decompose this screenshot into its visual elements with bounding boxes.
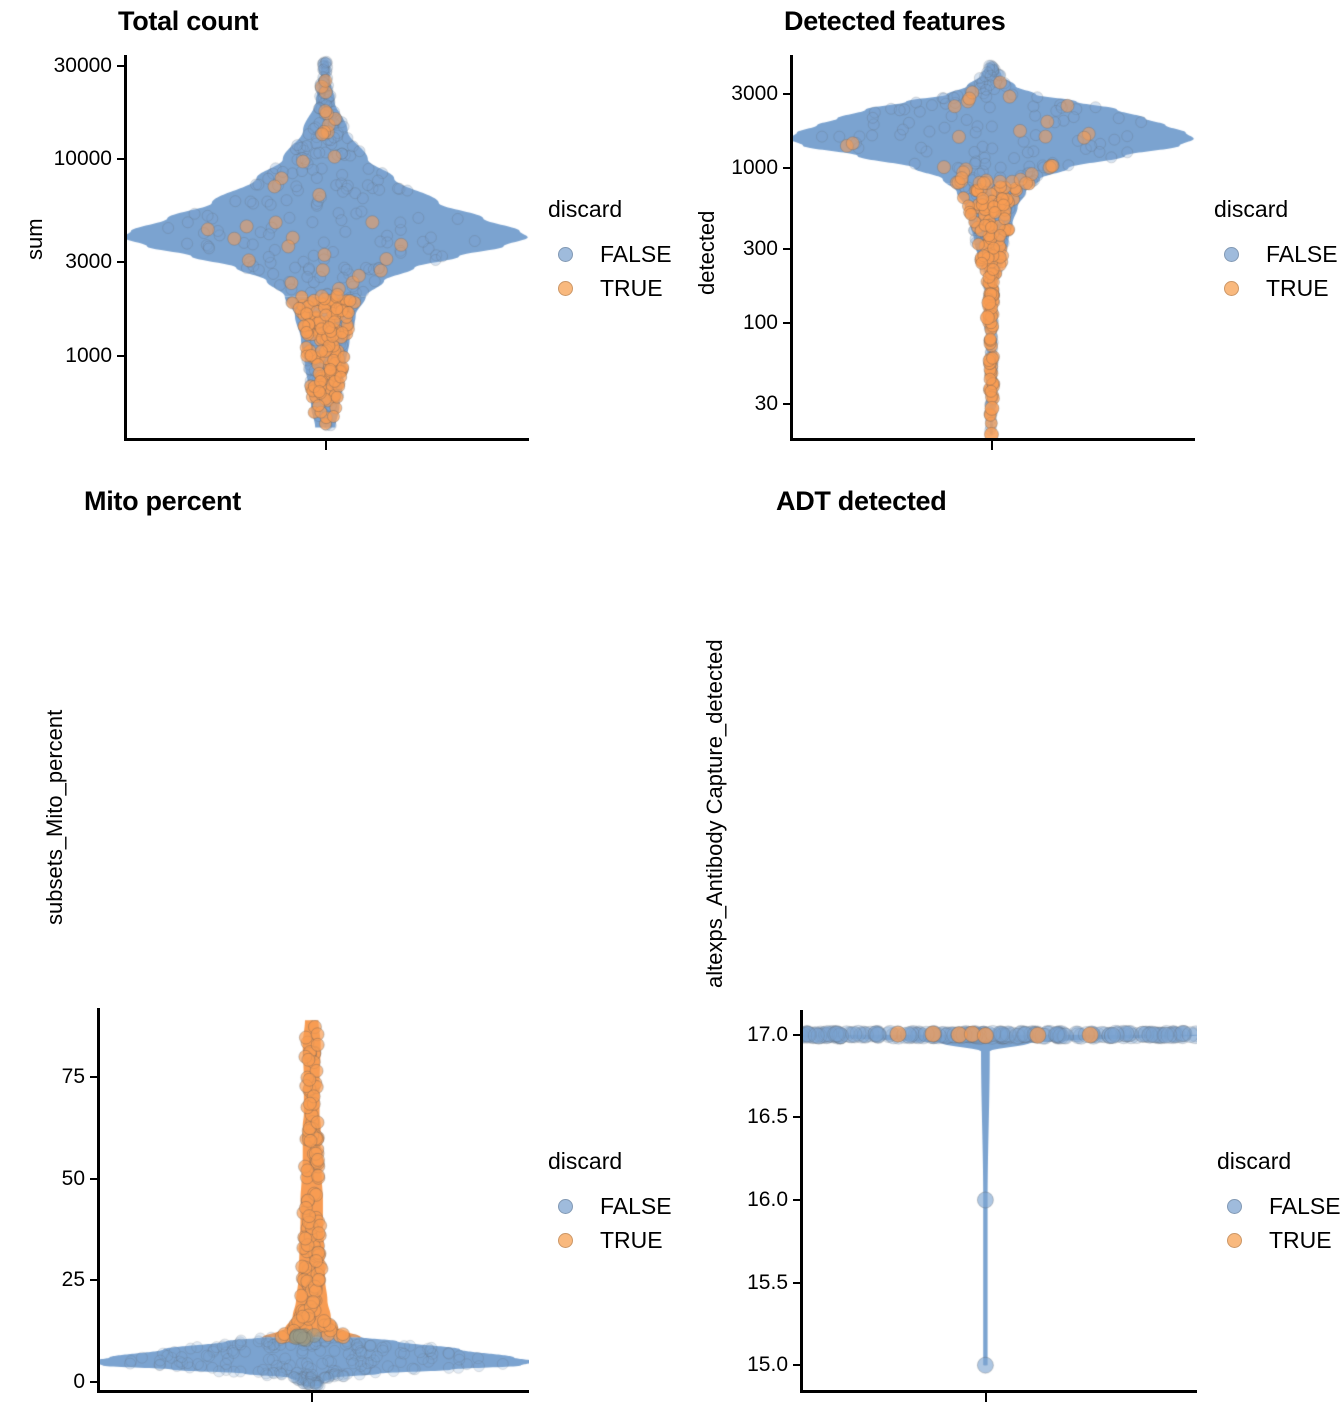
- legend-title: discard: [548, 196, 672, 223]
- legend-title: discard: [1217, 1148, 1341, 1175]
- x-axis-line-mito-percent: [97, 1390, 529, 1393]
- y-tick-label: 30000: [54, 54, 112, 78]
- legend-key-true: [1214, 271, 1248, 305]
- panel-title-adt-detected: ADT detected: [776, 486, 946, 517]
- legend-adt-detected: discard FALSE TRUE: [1217, 1148, 1341, 1257]
- x-axis-tick-adt-detected: [985, 1393, 987, 1402]
- violin-canvas-total-count: [124, 55, 529, 438]
- legend-detected-features: discard FALSE TRUE: [1214, 196, 1338, 305]
- y-axis-title-sum: sum: [22, 218, 48, 260]
- legend-dot-true-icon: [1227, 1233, 1242, 1248]
- y-tick-mark: [90, 1178, 97, 1180]
- y-tick-mark: [90, 1076, 97, 1078]
- y-tick-mark: [783, 93, 790, 95]
- y-axis-line-detected-features: [790, 55, 793, 438]
- legend-label-true: TRUE: [1266, 275, 1329, 302]
- x-axis-line-adt-detected: [800, 1390, 1197, 1393]
- legend-dot-false-icon: [558, 1199, 573, 1214]
- y-tick-mark: [793, 1364, 800, 1366]
- legend-total-count: discard FALSE TRUE: [548, 196, 672, 305]
- y-tick-mark: [793, 1116, 800, 1118]
- panel-total-count: Total count sum 100030001000030000 disca…: [0, 0, 672, 480]
- y-tick-mark: [793, 1034, 800, 1036]
- legend-dot-false-icon: [1224, 247, 1239, 262]
- legend-label-false: FALSE: [600, 241, 672, 268]
- y-axis-title-mito-percent: subsets_Mito_percent: [42, 710, 68, 925]
- legend-mito-percent: discard FALSE TRUE: [548, 1148, 672, 1257]
- legend-key-true: [548, 271, 582, 305]
- panel-adt-detected: ADT detected altexps_Antibody Capture_de…: [672, 480, 1344, 960]
- legend-label-true: TRUE: [600, 275, 663, 302]
- legend-label-false: FALSE: [1269, 1193, 1341, 1220]
- y-tick-mark: [783, 248, 790, 250]
- y-tick-mark: [117, 261, 124, 263]
- legend-dot-false-icon: [1227, 1199, 1242, 1214]
- legend-key-false: [1214, 237, 1248, 271]
- y-tick-mark: [90, 1381, 97, 1383]
- y-tick-mark: [793, 1199, 800, 1201]
- legend-row-false[interactable]: FALSE: [1214, 237, 1338, 271]
- y-tick-label: 30: [755, 392, 778, 416]
- legend-label-false: FALSE: [1266, 241, 1338, 268]
- y-tick-mark: [783, 403, 790, 405]
- x-axis-tick-mito-percent: [311, 1393, 313, 1402]
- y-tick-label: 75: [62, 1065, 85, 1089]
- legend-dot-true-icon: [558, 1233, 573, 1248]
- legend-dot-true-icon: [1224, 281, 1239, 296]
- qc-violin-figure: Total count sum 100030001000030000 disca…: [0, 0, 1344, 960]
- y-tick-label: 1000: [65, 344, 112, 368]
- legend-row-true[interactable]: TRUE: [1217, 1223, 1341, 1257]
- legend-row-true[interactable]: TRUE: [548, 1223, 672, 1257]
- x-axis-tick-detected-features: [991, 441, 993, 450]
- y-axis-title-adt-detected: altexps_Antibody Capture_detected: [702, 639, 728, 988]
- violin-canvas-detected-features: [790, 55, 1195, 438]
- y-tick-label: 100: [743, 311, 778, 335]
- legend-key-false: [548, 237, 582, 271]
- y-tick-label: 50: [62, 1167, 85, 1191]
- legend-key-false: [1217, 1189, 1251, 1223]
- y-tick-label: 16.5: [747, 1105, 788, 1129]
- legend-row-true[interactable]: TRUE: [548, 271, 672, 305]
- violin-canvas-adt-detected: [800, 1010, 1197, 1390]
- y-tick-mark: [117, 65, 124, 67]
- y-tick-mark: [90, 1279, 97, 1281]
- legend-key-false: [548, 1189, 582, 1223]
- y-axis-line-total-count: [124, 55, 127, 438]
- legend-key-true: [1217, 1223, 1251, 1257]
- y-tick-label: 3000: [731, 82, 778, 106]
- plot-area-total-count: [124, 55, 529, 438]
- y-tick-label: 17.0: [747, 1023, 788, 1047]
- y-tick-mark: [793, 1282, 800, 1284]
- y-tick-label: 3000: [65, 250, 112, 274]
- y-axis-title-detected: detected: [694, 211, 720, 295]
- legend-row-false[interactable]: FALSE: [548, 1189, 672, 1223]
- y-tick-label: 10000: [54, 147, 112, 171]
- legend-key-true: [548, 1223, 582, 1257]
- x-axis-tick-total-count: [325, 441, 327, 450]
- y-tick-label: 1000: [731, 156, 778, 180]
- y-tick-label: 0: [73, 1370, 85, 1394]
- y-tick-label: 300: [743, 237, 778, 261]
- legend-row-true[interactable]: TRUE: [1214, 271, 1338, 305]
- legend-title: discard: [1214, 196, 1338, 223]
- panel-title-mito-percent: Mito percent: [84, 486, 241, 517]
- panel-detected-features: Detected features detected 3010030010003…: [672, 0, 1344, 480]
- y-axis-line-mito-percent: [97, 1008, 100, 1390]
- violin-canvas-mito-percent: [97, 1008, 529, 1390]
- y-tick-mark: [117, 355, 124, 357]
- y-tick-mark: [783, 167, 790, 169]
- y-tick-label: 16.0: [747, 1188, 788, 1212]
- legend-label-true: TRUE: [600, 1227, 663, 1254]
- y-axis-line-adt-detected: [800, 1010, 803, 1390]
- legend-title: discard: [548, 1148, 672, 1175]
- y-tick-mark: [117, 158, 124, 160]
- legend-row-false[interactable]: FALSE: [548, 237, 672, 271]
- y-tick-label: 25: [62, 1268, 85, 1292]
- y-tick-label: 15.5: [747, 1271, 788, 1295]
- legend-dot-true-icon: [558, 281, 573, 296]
- plot-area-detected-features: [790, 55, 1195, 438]
- plot-area-mito-percent: [97, 1008, 529, 1390]
- y-tick-mark: [783, 322, 790, 324]
- panel-mito-percent: Mito percent subsets_Mito_percent 025507…: [0, 480, 672, 960]
- panel-title-total-count: Total count: [118, 6, 258, 37]
- legend-dot-false-icon: [558, 247, 573, 262]
- y-tick-label: 15.0: [747, 1353, 788, 1377]
- legend-label-false: FALSE: [600, 1193, 672, 1220]
- legend-row-false[interactable]: FALSE: [1217, 1189, 1341, 1223]
- legend-label-true: TRUE: [1269, 1227, 1332, 1254]
- plot-area-adt-detected: [800, 1010, 1197, 1390]
- panel-title-detected-features: Detected features: [784, 6, 1006, 37]
